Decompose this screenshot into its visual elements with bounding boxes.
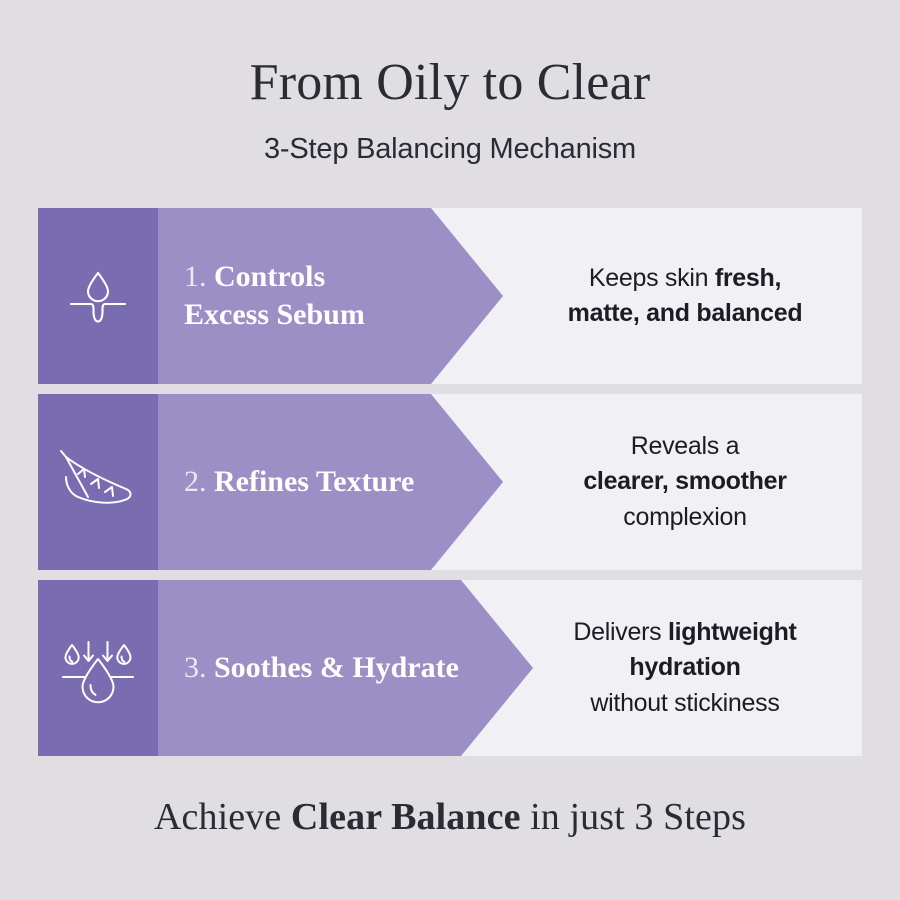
footer-plain-start: Achieve [154, 796, 291, 838]
step-1-number: 1. [184, 260, 207, 293]
step-3-benefit-plain-2: without stickiness [590, 689, 779, 717]
step-3-arrow: 3. Soothes & Hydrate [158, 580, 533, 756]
header: From Oily to Clear 3-Step Balancing Mech… [0, 56, 900, 166]
step-2-title-text: Refines Texture [214, 465, 414, 498]
step-1-benefit-bold-1: fresh, [715, 264, 781, 292]
step-2-title: 2. Refines Texture [158, 463, 424, 501]
step-3-number: 3. [184, 651, 207, 684]
step-2-arrow: 2. Refines Texture [158, 394, 503, 570]
step-1-icon-band [38, 208, 158, 384]
page-title: From Oily to Clear [0, 56, 900, 111]
step-1-title: 1. Controls Excess Sebum [158, 258, 375, 335]
step-1-title-text: Controls Excess Sebum [184, 260, 365, 331]
sebum-droplet-pore-icon [61, 259, 135, 333]
step-3-title-text: Soothes & Hydrate [214, 651, 459, 684]
step-1-benefit-text: Keeps skin fresh,matte, and balanced [568, 261, 803, 332]
step-2-number: 2. [184, 465, 207, 498]
step-1-benefit-plain-1: Keeps skin [589, 264, 715, 292]
feather-icon [58, 447, 138, 517]
steps-list: 1. Controls Excess Sebum Keeps skin fres… [38, 208, 862, 756]
step-3-benefit-plain-1: Delivers [573, 618, 668, 646]
footer-plain-end: in just 3 Steps [521, 796, 746, 838]
step-row-3: 3. Soothes & Hydrate Delivers lightweigh… [38, 580, 862, 756]
step-2-benefit: Reveals aclearer, smoothercomplexion [508, 394, 862, 570]
step-row-2: 2. Refines Texture Reveals aclearer, smo… [38, 394, 862, 570]
hydration-droplets-icon [58, 629, 138, 707]
footer-bold: Clear Balance [291, 796, 521, 838]
footer: Achieve Clear Balance in just 3 Steps [0, 795, 900, 839]
step-1-benefit: Keeps skin fresh,matte, and balanced [508, 208, 862, 384]
step-3-benefit-bold-2: hydration [629, 653, 740, 681]
step-2-benefit-plain-2: complexion [623, 503, 746, 531]
step-2-icon-band [38, 394, 158, 570]
step-3-benefit-bold-1: lightweight [668, 618, 797, 646]
step-3-benefit-text: Delivers lightweighthydrationwithout sti… [573, 615, 796, 722]
step-3-benefit: Delivers lightweighthydrationwithout sti… [508, 580, 862, 756]
footer-tagline: Achieve Clear Balance in just 3 Steps [0, 795, 900, 839]
step-1-benefit-bold-2: matte, and balanced [568, 299, 803, 327]
step-2-benefit-plain-1: Reveals a [631, 432, 739, 460]
step-3-title: 3. Soothes & Hydrate [158, 649, 469, 687]
page-subtitle: 3-Step Balancing Mechanism [0, 133, 900, 166]
step-2-benefit-bold-1: clearer, smoother [583, 467, 786, 495]
step-2-benefit-text: Reveals aclearer, smoothercomplexion [583, 429, 786, 536]
step-3-icon-band [38, 580, 158, 756]
step-row-1: 1. Controls Excess Sebum Keeps skin fres… [38, 208, 862, 384]
step-1-arrow: 1. Controls Excess Sebum [158, 208, 503, 384]
infographic-canvas: From Oily to Clear 3-Step Balancing Mech… [0, 0, 900, 900]
